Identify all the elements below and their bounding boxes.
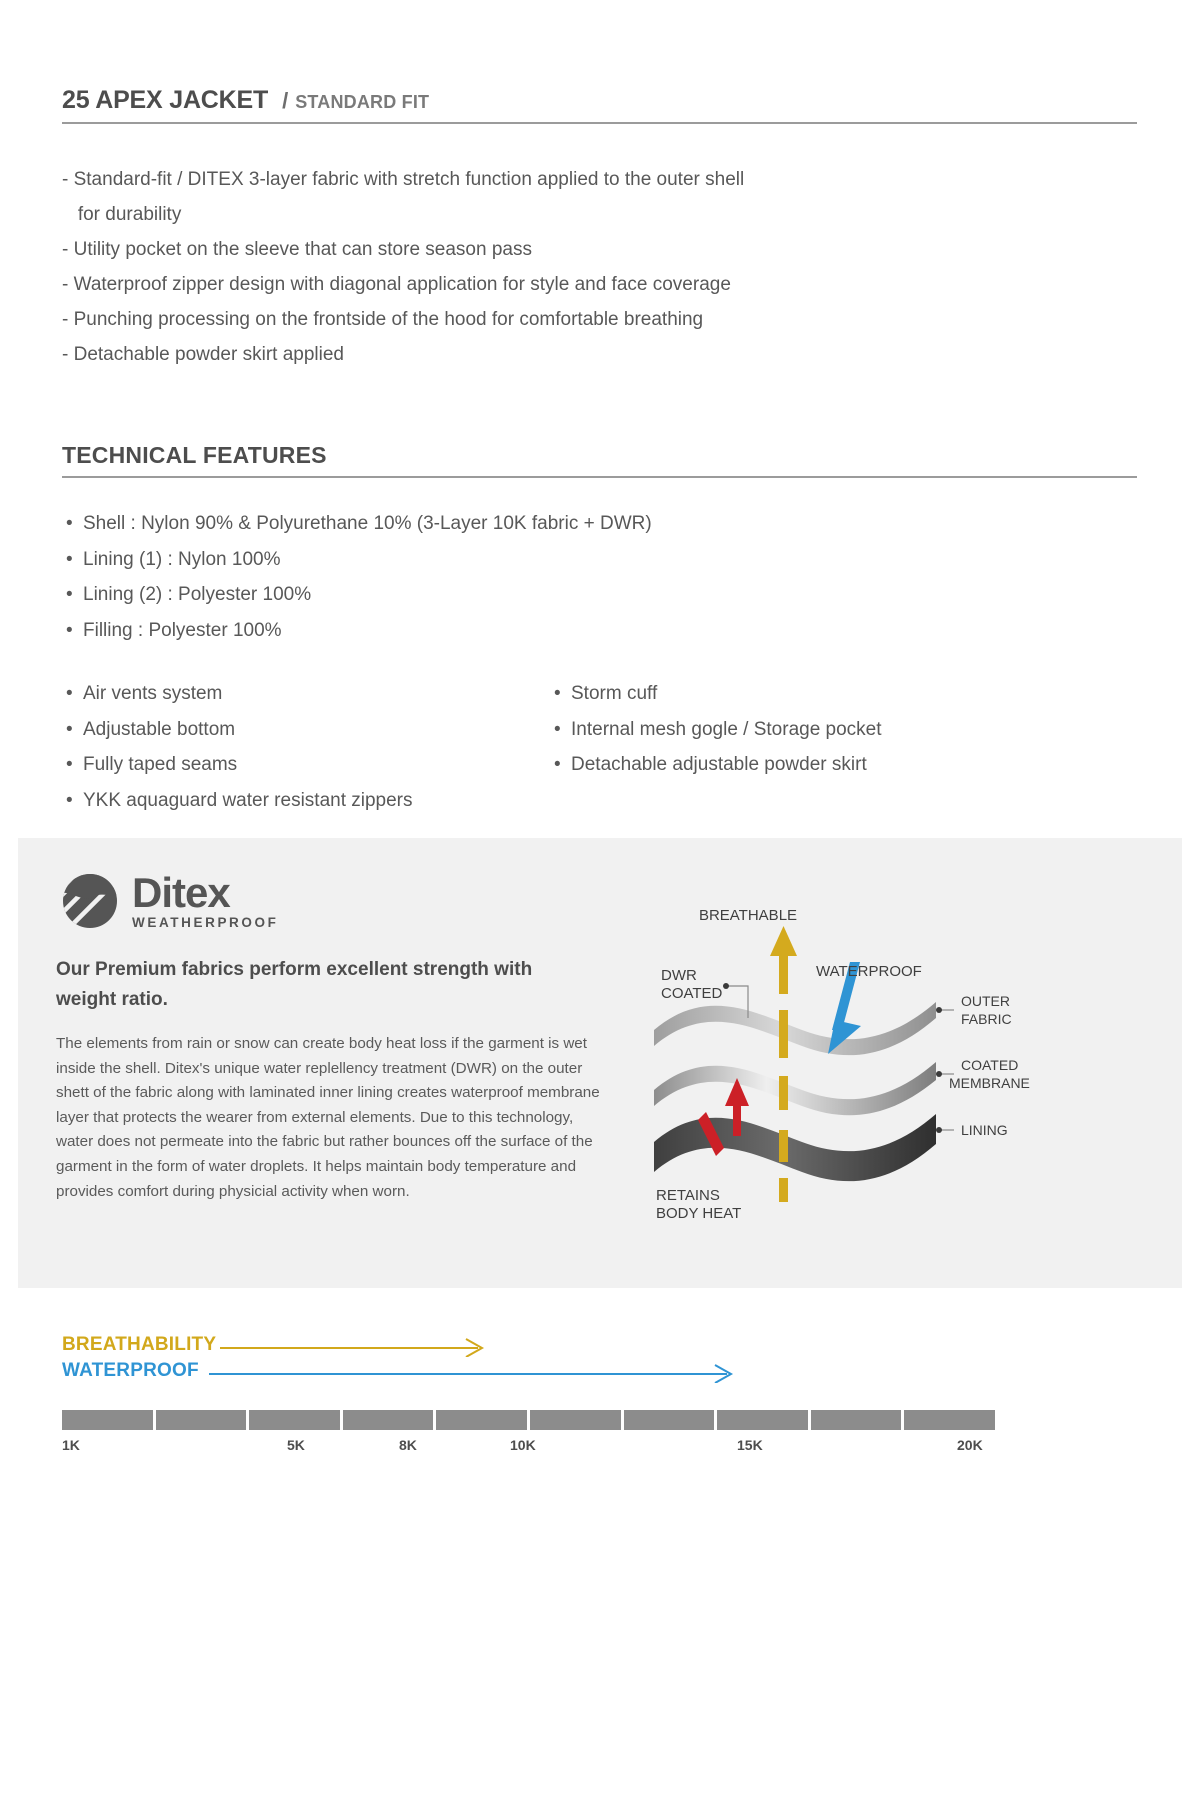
material-text: Lining (1) : Nylon 100% <box>83 549 281 570</box>
label-dwr-line2: COATED <box>661 985 723 1002</box>
bullet-icon: • <box>66 613 83 649</box>
feature-columns: •Air vents system •Storm cuff •Adjustabl… <box>66 676 1066 818</box>
bullet-icon: • <box>554 747 571 783</box>
description-line: - Punching processing on the frontside o… <box>62 302 1122 337</box>
title-divider <box>62 122 1137 124</box>
scale-segment <box>904 1410 995 1430</box>
scale-tick: 15K <box>737 1437 763 1453</box>
bullet-icon: • <box>554 712 571 748</box>
product-spec-page: 25 APEX JACKET / STANDARD FIT - Standard… <box>0 0 1200 1800</box>
material-text: Filling : Polyester 100% <box>83 620 282 641</box>
list-item: •Air vents system <box>66 676 554 712</box>
feature-text: Internal mesh gogle / Storage pocket <box>571 719 882 740</box>
label-membrane-line1: COATED <box>961 1057 1018 1073</box>
label-lining: LINING <box>961 1122 1008 1138</box>
list-item: •Lining (2) : Polyester 100% <box>66 577 966 613</box>
performance-scale-bar <box>62 1410 995 1430</box>
feature-text: YKK aquaguard water resistant zippers <box>83 790 413 811</box>
feature-row: •Fully taped seams •Detachable adjustabl… <box>66 747 1066 783</box>
description-line: - Detachable powder skirt applied <box>62 337 1122 372</box>
label-retains-line1: RETAINS <box>656 1187 720 1204</box>
feature-row: •Air vents system •Storm cuff <box>66 676 1066 712</box>
fabric-layer-diagram: BREATHABLE WATERPROOF DWR COATED OUTER F… <box>636 890 1036 1250</box>
waterproof-arrow-icon <box>199 1361 1002 1381</box>
section-heading: TECHNICAL FEATURES <box>62 442 1137 476</box>
brand-name: Ditex <box>132 871 278 915</box>
materials-list: •Shell : Nylon 90% & Polyurethane 10% (3… <box>66 506 966 648</box>
description-line: - Waterproof zipper design with diagonal… <box>62 267 1122 302</box>
list-item: •Filling : Polyester 100% <box>66 613 966 649</box>
material-text: Lining (2) : Polyester 100% <box>83 584 311 605</box>
list-item: •Shell : Nylon 90% & Polyurethane 10% (3… <box>66 506 966 542</box>
scale-tick: 8K <box>399 1437 417 1453</box>
list-item: •Lining (1) : Nylon 100% <box>66 542 966 578</box>
lining-layer <box>654 1114 936 1181</box>
scale-tick: 5K <box>287 1437 305 1453</box>
title-separator: / <box>282 88 288 114</box>
scale-segment <box>249 1410 340 1430</box>
bullet-icon: • <box>66 506 83 542</box>
description-list: - Standard-fit / DITEX 3-layer fabric wi… <box>62 162 1122 372</box>
page-title: 25 APEX JACKET <box>62 86 268 115</box>
label-outer-line1: OUTER <box>961 993 1010 1009</box>
ditex-wordmark: Ditex WEATHERPROOF <box>132 871 278 930</box>
list-item: •Storm cuff <box>554 676 1054 712</box>
list-item: •Detachable adjustable powder skirt <box>554 747 1054 783</box>
breathability-label: BREATHABILITY <box>62 1334 216 1356</box>
description-line: for durability <box>62 197 1122 232</box>
waterproof-row: WATERPROOF <box>62 1358 1002 1384</box>
scale-segment <box>811 1410 902 1430</box>
scale-segment <box>717 1410 808 1430</box>
page-title-block: 25 APEX JACKET / STANDARD FIT <box>62 86 1137 124</box>
label-outer-line2: FABRIC <box>961 1011 1012 1027</box>
scale-tick-labels: 1K 5K 8K 10K 15K 20K <box>62 1437 995 1457</box>
label-waterproof: WATERPROOF <box>816 963 922 980</box>
breathability-row: BREATHABILITY <box>62 1332 1002 1358</box>
bullet-icon: • <box>66 542 83 578</box>
brand-paragraph: The elements from rain or snow can creat… <box>56 1032 608 1204</box>
technical-features-header: TECHNICAL FEATURES <box>62 442 1137 478</box>
bullet-icon: • <box>66 747 83 783</box>
scale-tick: 1K <box>62 1437 80 1453</box>
brand-lede: Our Premium fabrics perform excellent st… <box>56 955 596 1015</box>
label-membrane-line2: MEMBRANE <box>949 1075 1030 1091</box>
label-dwr-line1: DWR <box>661 967 697 984</box>
list-item: •Fully taped seams <box>66 747 554 783</box>
performance-scale-labels: BREATHABILITY WATERPROOF <box>62 1332 1002 1384</box>
scale-tick: 10K <box>510 1437 536 1453</box>
scale-segment <box>343 1410 434 1430</box>
coated-membrane-layer <box>654 1062 936 1115</box>
bullet-icon: • <box>66 712 83 748</box>
feature-text: Adjustable bottom <box>83 719 235 740</box>
feature-text: Storm cuff <box>571 683 657 704</box>
title-row: 25 APEX JACKET / STANDARD FIT <box>62 86 1137 122</box>
scale-segment <box>62 1410 153 1430</box>
feature-spacer <box>554 783 1054 819</box>
breathability-arrow-icon <box>216 1335 1002 1355</box>
scale-segment <box>156 1410 247 1430</box>
label-retains-line2: BODY HEAT <box>656 1205 741 1222</box>
section-divider <box>62 476 1137 478</box>
brand-tagline: WEATHERPROOF <box>132 915 278 930</box>
feature-text: Detachable adjustable powder skirt <box>571 754 867 775</box>
list-item: •YKK aquaguard water resistant zippers <box>66 783 554 819</box>
bullet-icon: • <box>554 676 571 712</box>
ditex-logo: Ditex WEATHERPROOF <box>62 873 278 930</box>
waterproof-label: WATERPROOF <box>62 1360 199 1382</box>
bullet-icon: • <box>66 577 83 613</box>
outer-fabric-layer <box>654 1002 936 1055</box>
bullet-icon: • <box>66 676 83 712</box>
list-item: •Internal mesh gogle / Storage pocket <box>554 712 1054 748</box>
feature-text: Fully taped seams <box>83 754 237 775</box>
feature-text: Air vents system <box>83 683 222 704</box>
feature-row: •YKK aquaguard water resistant zippers <box>66 783 1066 819</box>
feature-row: •Adjustable bottom •Internal mesh gogle … <box>66 712 1066 748</box>
scale-tick: 20K <box>957 1437 983 1453</box>
bullet-icon: • <box>66 783 83 819</box>
scale-segment <box>530 1410 621 1430</box>
list-item: •Adjustable bottom <box>66 712 554 748</box>
scale-segment <box>624 1410 715 1430</box>
description-line: - Utility pocket on the sleeve that can … <box>62 232 1122 267</box>
material-text: Shell : Nylon 90% & Polyurethane 10% (3-… <box>83 513 652 534</box>
scale-segment <box>436 1410 527 1430</box>
title-subtitle: STANDARD FIT <box>295 92 429 113</box>
ditex-mark-icon <box>62 873 118 929</box>
description-line: - Standard-fit / DITEX 3-layer fabric wi… <box>62 162 1122 197</box>
label-breathable: BREATHABLE <box>699 907 797 924</box>
